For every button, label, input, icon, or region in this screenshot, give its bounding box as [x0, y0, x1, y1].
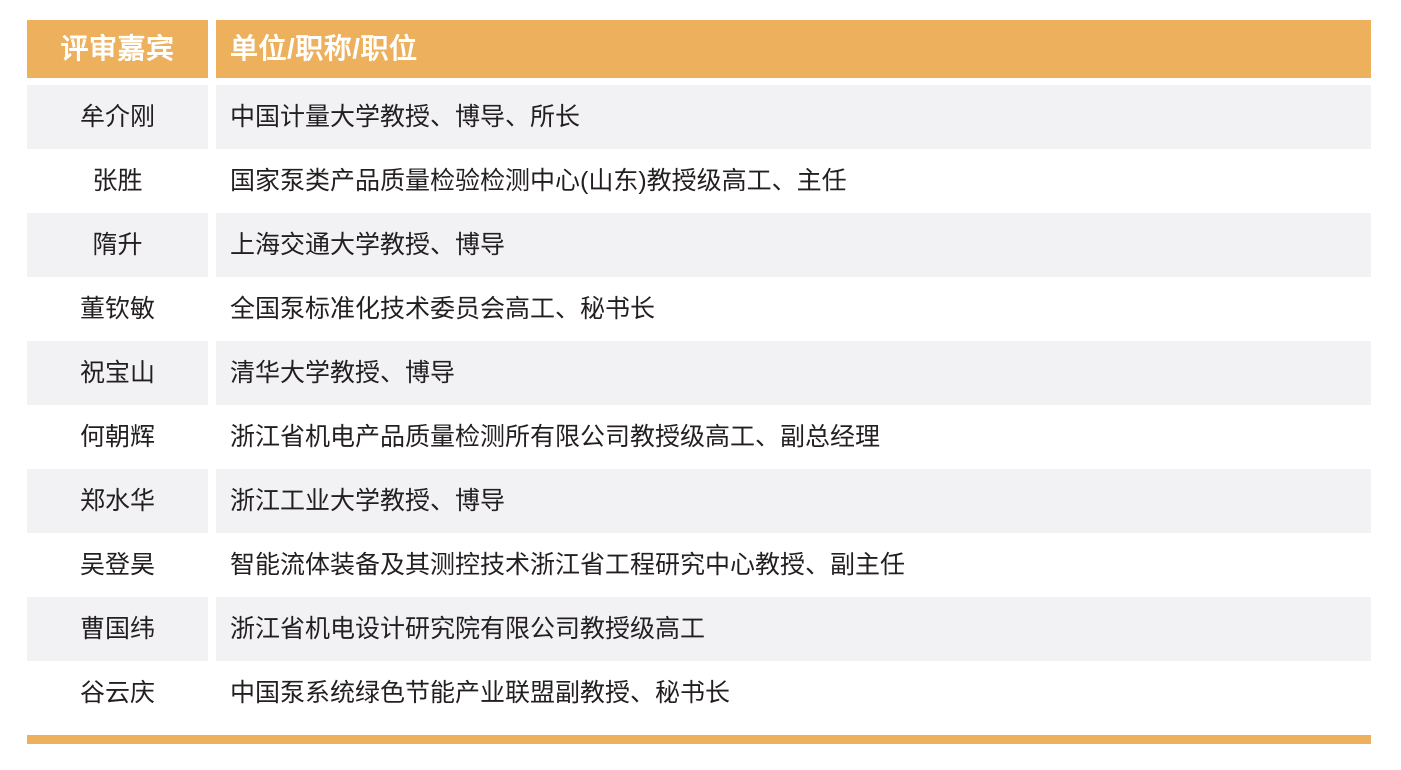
table-row: 何朝辉浙江省机电产品质量检测所有限公司教授级高工、副总经理	[27, 405, 1371, 469]
cell-judge-affiliation: 国家泵类产品质量检验检测中心(山东)教授级高工、主任	[216, 149, 1371, 213]
table-row: 董钦敏全国泵标准化技术委员会高工、秘书长	[27, 277, 1371, 341]
cell-judge-name: 吴登昊	[27, 533, 208, 597]
table-row: 隋升上海交通大学教授、博导	[27, 213, 1371, 277]
header-column-divider	[208, 20, 216, 78]
table-row: 张胜国家泵类产品质量检验检测中心(山东)教授级高工、主任	[27, 149, 1371, 213]
column-divider	[208, 85, 216, 149]
table-row: 吴登昊智能流体装备及其测控技术浙江省工程研究中心教授、副主任	[27, 533, 1371, 597]
column-header-name: 评审嘉宾	[27, 20, 208, 78]
page-root: 评审嘉宾 单位/职称/职位 牟介刚中国计量大学教授、博导、所长张胜国家泵类产品质…	[0, 0, 1401, 770]
cell-judge-affiliation: 智能流体装备及其测控技术浙江省工程研究中心教授、副主任	[216, 533, 1371, 597]
cell-judge-name: 祝宝山	[27, 341, 208, 405]
cell-judge-name: 郑水华	[27, 469, 208, 533]
table-row: 牟介刚中国计量大学教授、博导、所长	[27, 85, 1371, 149]
column-divider	[208, 469, 216, 533]
column-header-detail: 单位/职称/职位	[216, 20, 1371, 78]
cell-judge-name: 张胜	[27, 149, 208, 213]
cell-judge-affiliation: 全国泵标准化技术委员会高工、秘书长	[216, 277, 1371, 341]
column-divider	[208, 405, 216, 469]
table-header-row: 评审嘉宾 单位/职称/职位	[27, 20, 1371, 78]
cell-judge-name: 牟介刚	[27, 85, 208, 149]
column-divider	[208, 213, 216, 277]
table-row: 曹国纬浙江省机电设计研究院有限公司教授级高工	[27, 597, 1371, 661]
cell-judge-name: 董钦敏	[27, 277, 208, 341]
column-divider	[208, 277, 216, 341]
cell-judge-affiliation: 浙江工业大学教授、博导	[216, 469, 1371, 533]
cell-judge-affiliation: 中国计量大学教授、博导、所长	[216, 85, 1371, 149]
table-body: 牟介刚中国计量大学教授、博导、所长张胜国家泵类产品质量检验检测中心(山东)教授级…	[27, 85, 1371, 725]
table-row: 祝宝山清华大学教授、博导	[27, 341, 1371, 405]
column-divider	[208, 341, 216, 405]
cell-judge-affiliation: 清华大学教授、博导	[216, 341, 1371, 405]
cell-judge-name: 谷云庆	[27, 661, 208, 725]
cell-judge-name: 何朝辉	[27, 405, 208, 469]
judges-table: 评审嘉宾 单位/职称/职位 牟介刚中国计量大学教授、博导、所长张胜国家泵类产品质…	[27, 20, 1371, 725]
cell-judge-affiliation: 中国泵系统绿色节能产业联盟副教授、秘书长	[216, 661, 1371, 725]
table-row: 郑水华浙江工业大学教授、博导	[27, 469, 1371, 533]
cell-judge-affiliation: 浙江省机电设计研究院有限公司教授级高工	[216, 597, 1371, 661]
cell-judge-name: 曹国纬	[27, 597, 208, 661]
cell-judge-affiliation: 上海交通大学教授、博导	[216, 213, 1371, 277]
bottom-accent-bar	[27, 735, 1371, 744]
cell-judge-name: 隋升	[27, 213, 208, 277]
column-divider	[208, 149, 216, 213]
cell-judge-affiliation: 浙江省机电产品质量检测所有限公司教授级高工、副总经理	[216, 405, 1371, 469]
table-row: 谷云庆中国泵系统绿色节能产业联盟副教授、秘书长	[27, 661, 1371, 725]
column-divider	[208, 533, 216, 597]
column-divider	[208, 661, 216, 725]
column-divider	[208, 597, 216, 661]
